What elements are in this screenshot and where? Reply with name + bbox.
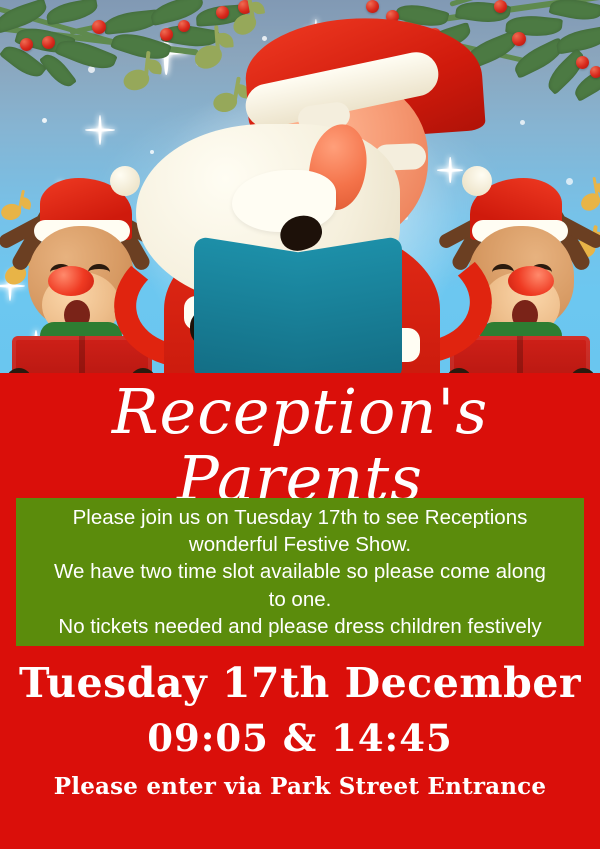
- christmas-event-poster: Reception's Parents Please join us on Tu…: [0, 0, 600, 849]
- event-date: Tuesday 17th December: [0, 659, 600, 707]
- illustration-scene: [0, 0, 600, 373]
- poster-text-panel: Reception's Parents Please join us on Tu…: [0, 373, 600, 849]
- song-book: [194, 244, 402, 373]
- event-times: 09:05 & 14:45: [0, 716, 600, 760]
- announcement-text: Please join us on Tuesday 17th to see Re…: [54, 504, 546, 639]
- entrance-instruction: Please enter via Park Street Entrance: [0, 773, 600, 800]
- snow-dot: [42, 118, 47, 123]
- page-title: Reception's Parents: [0, 379, 600, 513]
- announcement-box: Please join us on Tuesday 17th to see Re…: [16, 498, 584, 646]
- snow-dot: [520, 120, 525, 125]
- reindeer-nose: [48, 266, 94, 296]
- santa-claus: [128, 28, 474, 373]
- reindeer-nose: [508, 266, 554, 296]
- sparkle-star: [85, 115, 115, 145]
